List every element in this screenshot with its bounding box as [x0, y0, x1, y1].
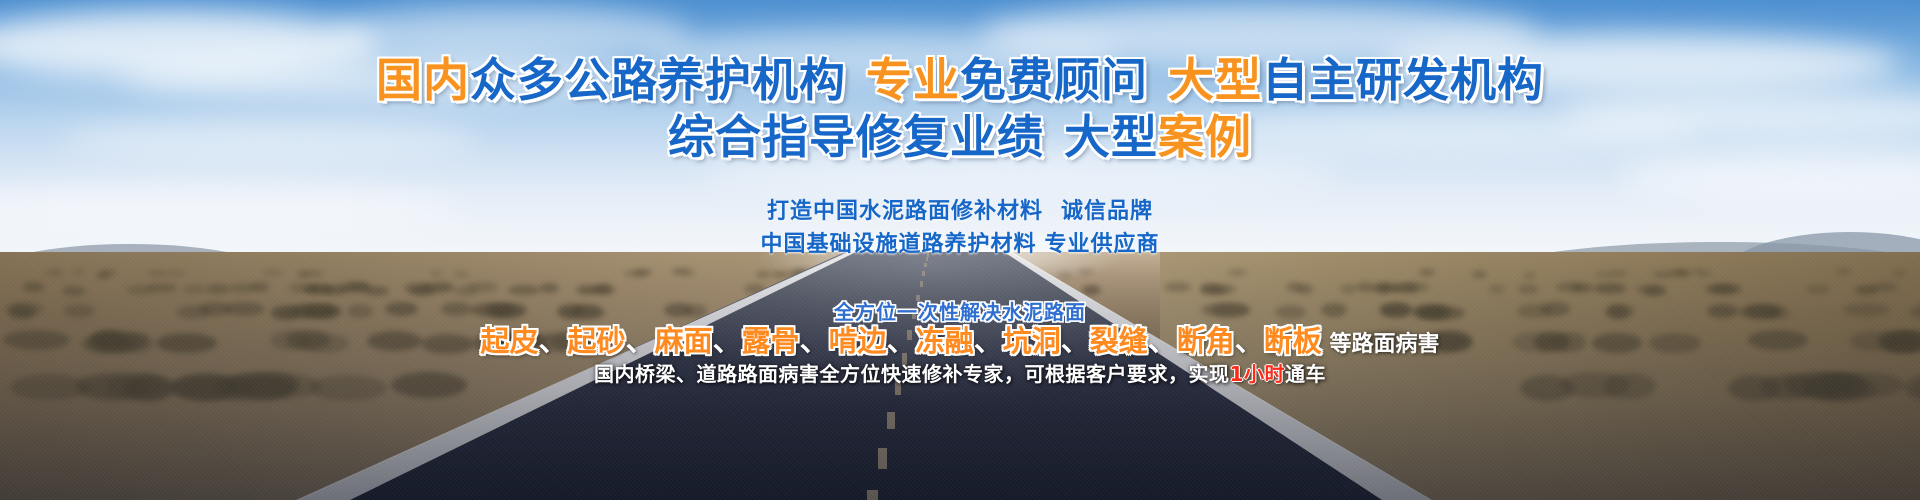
damage-item: 裂缝 [1090, 324, 1148, 358]
headline-seg: 大型 [1168, 53, 1262, 107]
damage-item: 断角 [1177, 324, 1235, 358]
subtitle-line-1: 打造中国水泥路面修补材料诚信品牌 [0, 193, 1920, 225]
damage-tail: 等路面病害 [1322, 332, 1440, 357]
closing-highlight: 1小时 [1230, 362, 1285, 386]
headline-line-2: 综合指导修复业绩大型案例 [0, 101, 1920, 167]
damage-separator: 、 [1061, 324, 1090, 358]
damage-item: 断板 [1264, 324, 1322, 358]
damage-separator: 、 [1148, 324, 1177, 358]
promo-banner: 国内众多公路养护机构专业免费顾问大型自主研发机构 综合指导修复业绩大型案例 打造… [0, 0, 1920, 500]
subtitle-line-2: 中国基础设施道路养护材料专业供应商 [0, 226, 1920, 258]
closing-after: 通车 [1285, 362, 1326, 386]
headline-seg: 案例 [1158, 110, 1252, 164]
headline-seg: 专业 [866, 53, 960, 107]
headline-seg: 众多公路养护机构 [470, 53, 846, 107]
damage-separator: 、 [626, 324, 655, 358]
damage-item: 坑洞 [1003, 324, 1061, 358]
damage-separator: 、 [1235, 324, 1264, 358]
damage-separator: 、 [887, 324, 916, 358]
damage-item: 露骨 [742, 324, 800, 358]
damage-item: 起砂 [568, 324, 626, 358]
headline-seg: 自主研发机构 [1262, 53, 1544, 107]
damage-item: 起皮 [481, 324, 539, 358]
closing-before: 国内桥梁、道路路面病害全方位快速修补专家，可根据客户要求，实现 [594, 362, 1230, 386]
headline-seg: 大型 [1064, 110, 1158, 164]
subtitle-seg: 中国基础设施道路养护材料 [760, 232, 1036, 257]
damage-item: 冻融 [916, 324, 974, 358]
damage-separator: 、 [974, 324, 1003, 358]
headline-seg: 国内 [376, 53, 470, 107]
damage-item: 啃边 [829, 324, 887, 358]
damage-item: 麻面 [655, 324, 713, 358]
headline-seg: 免费顾问 [960, 53, 1148, 107]
subtitle-seg: 诚信品牌 [1061, 199, 1153, 224]
damage-separator: 、 [539, 324, 568, 358]
closing-line: 国内桥梁、道路路面病害全方位快速修补专家，可根据客户要求，实现1小时通车 [0, 358, 1920, 387]
damage-list: 起皮、起砂、麻面、露骨、啃边、冻融、坑洞、裂缝、断角、断板 等路面病害 [0, 318, 1920, 360]
subtitle-seg: 专业供应商 [1045, 232, 1160, 257]
subtitle-seg: 打造中国水泥路面修补材料 [767, 199, 1043, 224]
banner-text-layer: 国内众多公路养护机构专业免费顾问大型自主研发机构 综合指导修复业绩大型案例 打造… [0, 0, 1920, 500]
damage-separator: 、 [713, 324, 742, 358]
headline-seg: 综合指导修复业绩 [668, 110, 1044, 164]
damage-separator: 、 [800, 324, 829, 358]
